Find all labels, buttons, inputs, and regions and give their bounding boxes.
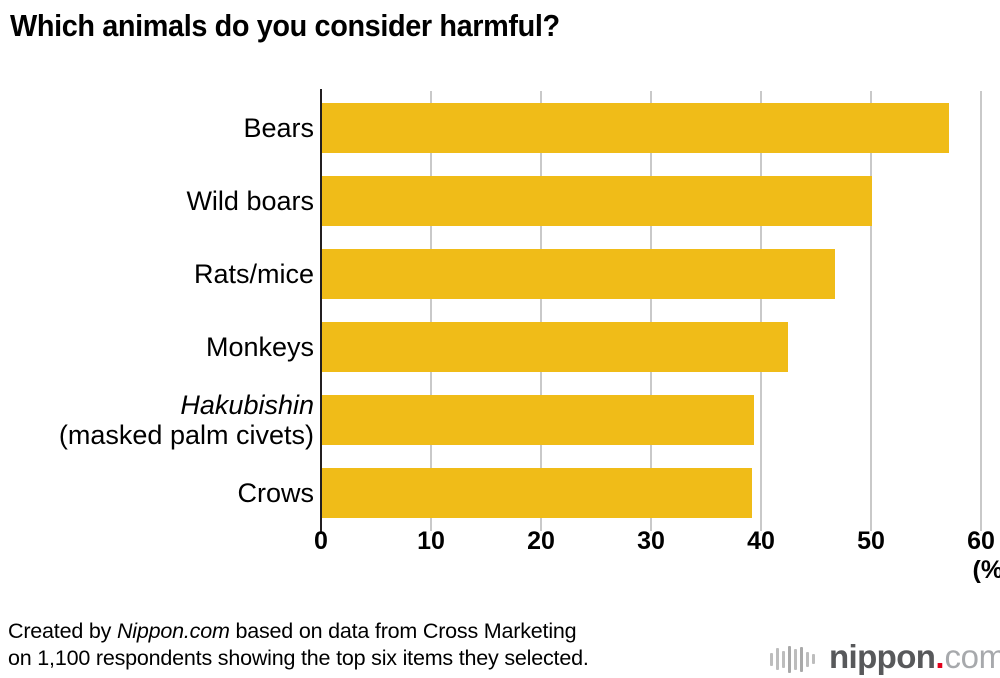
source-note: Created by Nippon.com based on data from…	[8, 618, 589, 672]
bar	[322, 395, 754, 445]
nippon-com-logo[interactable]: nippon.com	[770, 636, 1000, 674]
gridline-50	[870, 91, 872, 531]
y-axis-line	[320, 89, 322, 533]
source-note-line-2: on 1,100 respondents showing the top six…	[8, 645, 589, 672]
x-tick-label-30: 30	[621, 527, 681, 556]
bar	[322, 176, 872, 226]
gridline-20	[540, 91, 542, 531]
x-tick-label-0: 0	[291, 527, 351, 556]
x-tick-label-20: 20	[511, 527, 571, 556]
category-label: Hakubishin(masked palm civets)	[59, 390, 314, 450]
source-note-prefix: Created by	[8, 619, 117, 643]
bar	[322, 249, 835, 299]
logo-tld: com	[945, 640, 1000, 674]
category-label: Rats/mice	[194, 259, 314, 289]
category-label-line-2: (masked palm civets)	[59, 420, 314, 450]
category-label-line-1: Crows	[237, 478, 314, 508]
x-tick-label-40: 40	[731, 527, 791, 556]
gridline-30	[650, 91, 652, 531]
bar	[322, 322, 788, 372]
waveform-bars-icon	[770, 644, 818, 674]
bar	[322, 468, 752, 518]
category-label: Bears	[243, 113, 314, 143]
x-tick-label-10: 10	[401, 527, 461, 556]
category-label-line-1: Bears	[243, 113, 314, 143]
x-axis-unit-label: (%)	[957, 556, 1000, 585]
gridline-40	[760, 91, 762, 531]
x-tick-label-60: 60	[951, 527, 1000, 556]
x-tick-label-50: 50	[841, 527, 901, 556]
source-note-publisher: Nippon.com	[117, 619, 230, 643]
bar	[322, 103, 949, 153]
source-note-suffix: based on data from Cross Marketing	[230, 619, 577, 643]
bar-chart: BearsWild boarsRats/miceMonkeysHakubishi…	[0, 0, 1000, 600]
gridline-60	[980, 91, 982, 531]
category-label-line-1: Monkeys	[206, 332, 314, 362]
category-label: Wild boars	[186, 186, 314, 216]
logo-dot: .	[935, 640, 944, 674]
gridline-10	[430, 91, 432, 531]
category-label: Monkeys	[206, 332, 314, 362]
source-note-line-1: Created by Nippon.com based on data from…	[8, 618, 589, 645]
category-label-line-1: Wild boars	[186, 186, 314, 216]
category-label-line-1: Rats/mice	[194, 259, 314, 289]
category-label: Crows	[237, 478, 314, 508]
category-label-line-1: Hakubishin	[180, 390, 314, 420]
logo-wordmark: nippon	[829, 640, 935, 674]
